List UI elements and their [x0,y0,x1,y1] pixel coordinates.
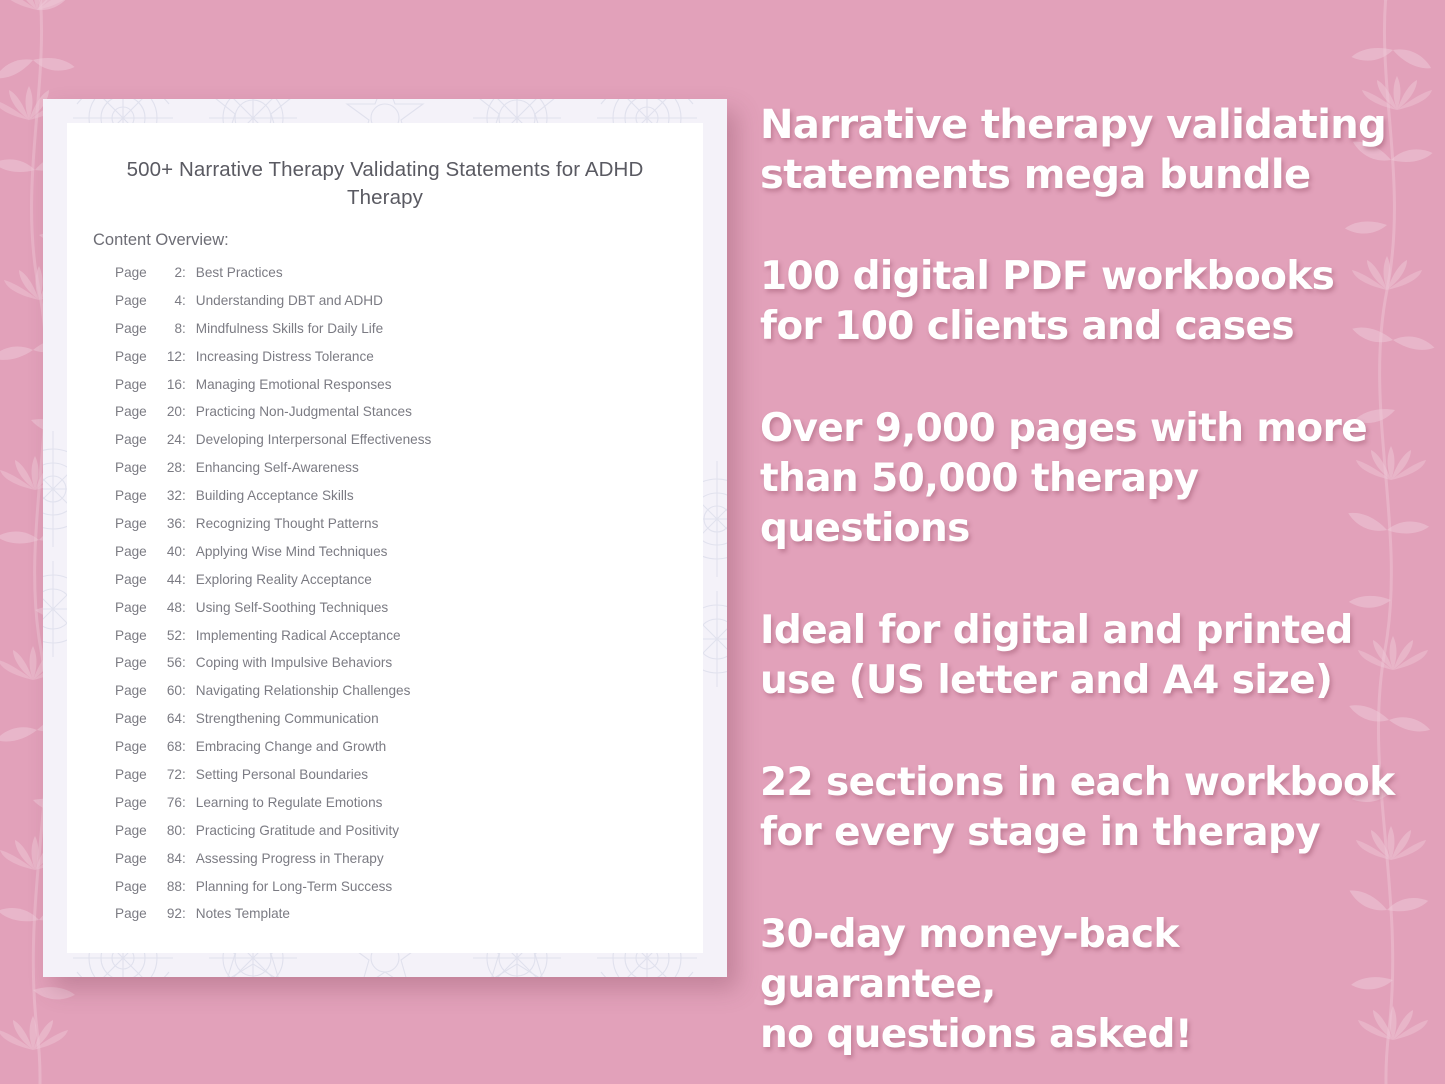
toc-row: Page16:Managing Emotional Responses [115,377,685,405]
toc-colon: : [182,377,186,392]
marketing-bullet: 22 sections in each workbookfor every st… [760,758,1400,858]
toc-page-word: Page [115,516,152,531]
toc-page-word: Page [115,377,152,392]
toc-colon: : [182,767,186,782]
toc-section-label: Managing Emotional Responses [196,377,392,392]
toc-page-number: 24 [156,432,182,447]
marketing-bullet-line: Over 9,000 pages with more [760,404,1400,454]
toc-page-number: 52 [156,628,182,643]
toc-page-word: Page [115,711,152,726]
toc-section-label: Notes Template [196,906,290,921]
toc-page-word: Page [115,628,152,643]
toc-page-word: Page [115,683,152,698]
toc-page-number: 68 [156,739,182,754]
toc-page-word: Page [115,851,152,866]
toc-section-label: Understanding DBT and ADHD [196,293,383,308]
toc-page-number: 88 [156,879,182,894]
toc-page-word: Page [115,488,152,503]
toc-page-number: 56 [156,655,182,670]
marketing-bullet-line: use (US letter and A4 size) [760,656,1400,706]
marketing-bullet-line: for 100 clients and cases [760,302,1400,352]
toc-page-word: Page [115,293,152,308]
marketing-bullet-line: for every stage in therapy [760,808,1400,858]
toc-row: Page72:Setting Personal Boundaries [115,767,685,795]
toc-page-number: 20 [156,404,182,419]
toc-colon: : [182,432,186,447]
toc-colon: : [182,488,186,503]
toc-row: Page92:Notes Template [115,906,685,934]
toc-colon: : [182,349,186,364]
toc-row: Page68:Embracing Change and Growth [115,739,685,767]
marketing-bullet: Narrative therapy validatingstatements m… [760,100,1400,200]
marketing-bullet: Over 9,000 pages with morethan 50,000 th… [760,404,1400,554]
toc-page-number: 4 [156,293,182,308]
toc-section-label: Mindfulness Skills for Daily Life [196,321,383,336]
toc-colon: : [182,655,186,670]
toc-row: Page36:Recognizing Thought Patterns [115,516,685,544]
toc-section-label: Recognizing Thought Patterns [196,516,379,531]
marketing-bullet-line: Ideal for digital and printed [760,606,1400,656]
toc-section-label: Navigating Relationship Challenges [196,683,411,698]
toc-row: Page64:Strengthening Communication [115,711,685,739]
toc-section-label: Learning to Regulate Emotions [196,795,383,810]
marketing-bullet-line: 30-day money-back guarantee, [760,910,1400,1010]
toc-page-number: 36 [156,516,182,531]
toc-row: Page2:Best Practices [115,265,685,293]
toc-page-number: 28 [156,460,182,475]
toc-page-number: 64 [156,711,182,726]
toc-page-word: Page [115,823,152,838]
toc-page-word: Page [115,432,152,447]
toc-colon: : [182,906,186,921]
toc-page-number: 60 [156,683,182,698]
toc-section-label: Enhancing Self-Awareness [196,460,359,475]
toc-row: Page4:Understanding DBT and ADHD [115,293,685,321]
toc-section-label: Applying Wise Mind Techniques [196,544,388,559]
toc-page-word: Page [115,460,152,475]
toc-row: Page88:Planning for Long-Term Success [115,879,685,907]
toc-page-word: Page [115,572,152,587]
toc-colon: : [182,851,186,866]
toc-colon: : [182,572,186,587]
toc-page-number: 2 [156,265,182,280]
toc-page-word: Page [115,739,152,754]
toc-row: Page40:Applying Wise Mind Techniques [115,544,685,572]
toc-colon: : [182,628,186,643]
toc-section-label: Practicing Gratitude and Positivity [196,823,399,838]
toc-section-label: Increasing Distress Tolerance [196,349,374,364]
toc-row: Page48:Using Self-Soothing Techniques [115,600,685,628]
toc-row: Page56:Coping with Impulsive Behaviors [115,655,685,683]
toc-colon: : [182,544,186,559]
toc-section-label: Exploring Reality Acceptance [196,572,372,587]
toc-page-word: Page [115,767,152,782]
toc-row: Page80:Practicing Gratitude and Positivi… [115,823,685,851]
toc-row: Page76:Learning to Regulate Emotions [115,795,685,823]
promo-graphic: 500+ Narrative Therapy Validating Statem… [0,0,1445,1084]
toc-page-word: Page [115,265,152,280]
marketing-bullet-line: statements mega bundle [760,150,1400,200]
workbook-preview-card[interactable]: 500+ Narrative Therapy Validating Statem… [43,99,727,977]
toc-colon: : [182,321,186,336]
toc-section-label: Building Acceptance Skills [196,488,354,503]
toc-row: Page24:Developing Interpersonal Effectiv… [115,432,685,460]
toc-colon: : [182,823,186,838]
toc-page-number: 8 [156,321,182,336]
content-overview-label: Content Overview: [93,231,229,250]
toc-page-word: Page [115,906,152,921]
toc-page-number: 44 [156,572,182,587]
toc-section-label: Assessing Progress in Therapy [196,851,384,866]
toc-page-number: 80 [156,823,182,838]
toc-row: Page44:Exploring Reality Acceptance [115,572,685,600]
toc-colon: : [182,460,186,475]
page-title: 500+ Narrative Therapy Validating Statem… [117,156,653,212]
toc-section-label: Strengthening Communication [196,711,379,726]
toc-section-label: Practicing Non-Judgmental Stances [196,404,412,419]
marketing-bullet: 100 digital PDF workbooksfor 100 clients… [760,252,1400,352]
marketing-bullet-line: 22 sections in each workbook [760,758,1400,808]
toc-page-number: 84 [156,851,182,866]
toc-section-label: Setting Personal Boundaries [196,767,368,782]
toc-row: Page32:Building Acceptance Skills [115,488,685,516]
toc-page-number: 92 [156,906,182,921]
toc-colon: : [182,739,186,754]
toc-page-word: Page [115,321,152,336]
toc-row: Page20:Practicing Non-Judgmental Stances [115,404,685,432]
toc-page-word: Page [115,349,152,364]
toc-section-label: Developing Interpersonal Effectiveness [196,432,432,447]
marketing-bullet-line: no questions asked! [760,1010,1400,1060]
toc-colon: : [182,516,186,531]
toc-colon: : [182,404,186,419]
toc-colon: : [182,683,186,698]
marketing-bullet-line: 100 digital PDF workbooks [760,252,1400,302]
toc-page-word: Page [115,879,152,894]
workbook-page: 500+ Narrative Therapy Validating Statem… [67,123,703,953]
toc-page-number: 76 [156,795,182,810]
toc-page-word: Page [115,655,152,670]
toc-row: Page8:Mindfulness Skills for Daily Life [115,321,685,349]
toc-section-label: Implementing Radical Acceptance [196,628,401,643]
toc-colon: : [182,795,186,810]
toc-row: Page52:Implementing Radical Acceptance [115,628,685,656]
toc-page-word: Page [115,795,152,810]
toc-section-label: Coping with Impulsive Behaviors [196,655,392,670]
toc-page-word: Page [115,404,152,419]
toc-section-label: Best Practices [196,265,283,280]
marketing-bullet-list: Narrative therapy validatingstatements m… [760,100,1400,1084]
toc-page-number: 48 [156,600,182,615]
marketing-bullet: 30-day money-back guarantee,no questions… [760,910,1400,1060]
toc-section-label: Using Self-Soothing Techniques [196,600,388,615]
toc-row: Page60:Navigating Relationship Challenge… [115,683,685,711]
toc-page-number: 12 [156,349,182,364]
toc-colon: : [182,711,186,726]
toc-page-word: Page [115,544,152,559]
table-of-contents: Page2:Best PracticesPage4:Understanding … [115,265,685,934]
toc-page-number: 16 [156,377,182,392]
marketing-bullet-line: Narrative therapy validating [760,100,1400,150]
toc-colon: : [182,600,186,615]
toc-page-number: 72 [156,767,182,782]
toc-colon: : [182,293,186,308]
toc-page-word: Page [115,600,152,615]
toc-section-label: Planning for Long-Term Success [196,879,392,894]
toc-section-label: Embracing Change and Growth [196,739,386,754]
toc-row: Page84:Assessing Progress in Therapy [115,851,685,879]
marketing-bullet-line: than 50,000 therapy questions [760,454,1400,554]
toc-colon: : [182,879,186,894]
toc-row: Page12:Increasing Distress Tolerance [115,349,685,377]
marketing-bullet: Ideal for digital and printeduse (US let… [760,606,1400,706]
toc-row: Page28:Enhancing Self-Awareness [115,460,685,488]
toc-page-number: 32 [156,488,182,503]
toc-colon: : [182,265,186,280]
toc-page-number: 40 [156,544,182,559]
